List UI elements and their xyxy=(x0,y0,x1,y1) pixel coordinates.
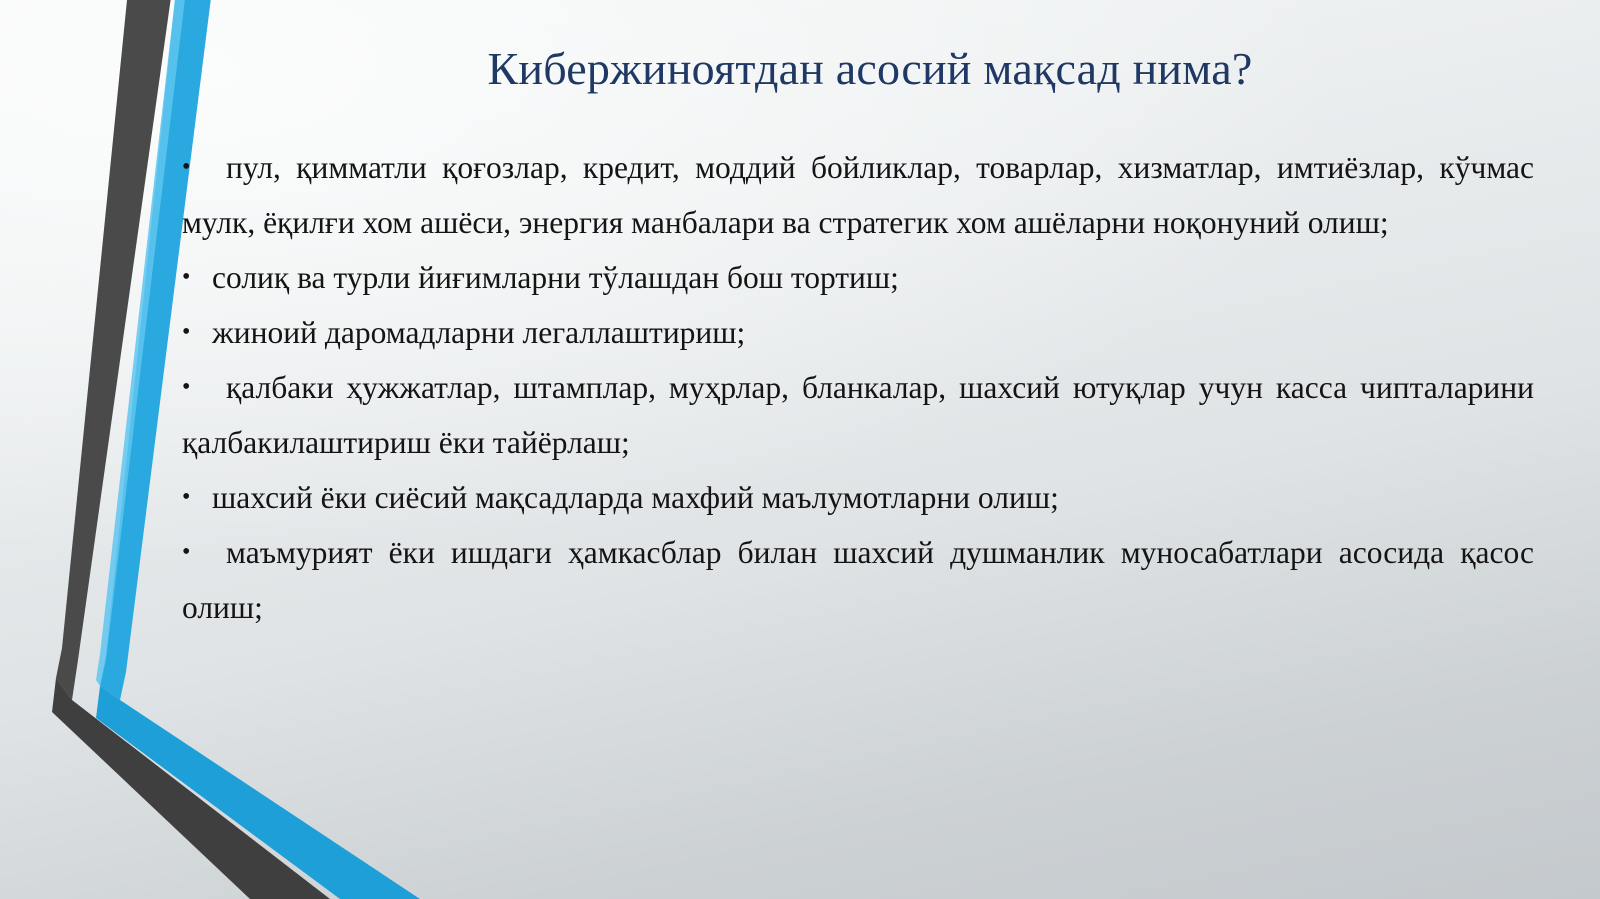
bullet-glyph-icon: • xyxy=(182,525,226,580)
bullet-glyph-icon: • xyxy=(182,470,212,525)
page-title: Кибержиноятдан асосий мақсад нима? xyxy=(180,44,1560,95)
bullet-list: •пул, қимматли қоғозлар, кредит, моддий … xyxy=(182,140,1534,635)
bullet-glyph-icon: • xyxy=(182,305,212,360)
list-item: •пул, қимматли қоғозлар, кредит, моддий … xyxy=(182,140,1534,250)
bullet-glyph-icon: • xyxy=(182,250,212,305)
blue-stripe-highlight-icon xyxy=(96,0,186,686)
list-item-text: жиноий даромадларни легаллаштириш; xyxy=(212,315,745,350)
list-item: •жиноий даромадларни легаллаштириш; xyxy=(182,305,1534,360)
list-item-text: пул, қимматли қоғозлар, кредит, моддий б… xyxy=(182,150,1534,240)
blue-stripe-lower-icon xyxy=(96,686,420,899)
title-block: Кибержиноятдан асосий мақсад нима? xyxy=(180,44,1560,95)
list-item: •маъмурият ёки ишдаги ҳамкасблар билан ш… xyxy=(182,525,1534,635)
list-item: •қалбаки ҳужжатлар, штамплар, муҳрлар, б… xyxy=(182,360,1534,470)
gray-stripe-icon xyxy=(56,0,172,700)
list-item: •солиқ ва турли йиғимларни тўлашдан бош … xyxy=(182,250,1534,305)
presentation-slide: Кибержиноятдан асосий мақсад нима? •пул,… xyxy=(0,0,1600,899)
bullet-glyph-icon: • xyxy=(182,140,226,195)
gray-stripe-lower-icon xyxy=(52,678,330,899)
bullet-glyph-icon: • xyxy=(182,360,226,415)
list-item-text: маъмурият ёки ишдаги ҳамкасблар билан ша… xyxy=(182,535,1534,625)
list-item-text: шахсий ёки сиёсий мақсадларда махфий маъ… xyxy=(212,480,1059,515)
list-item-text: қалбаки ҳужжатлар, штамплар, муҳрлар, бл… xyxy=(182,370,1534,460)
list-item: •шахсий ёки сиёсий мақсадларда махфий ма… xyxy=(182,470,1534,525)
list-item-text: солиқ ва турли йиғимларни тўлашдан бош т… xyxy=(212,260,899,295)
